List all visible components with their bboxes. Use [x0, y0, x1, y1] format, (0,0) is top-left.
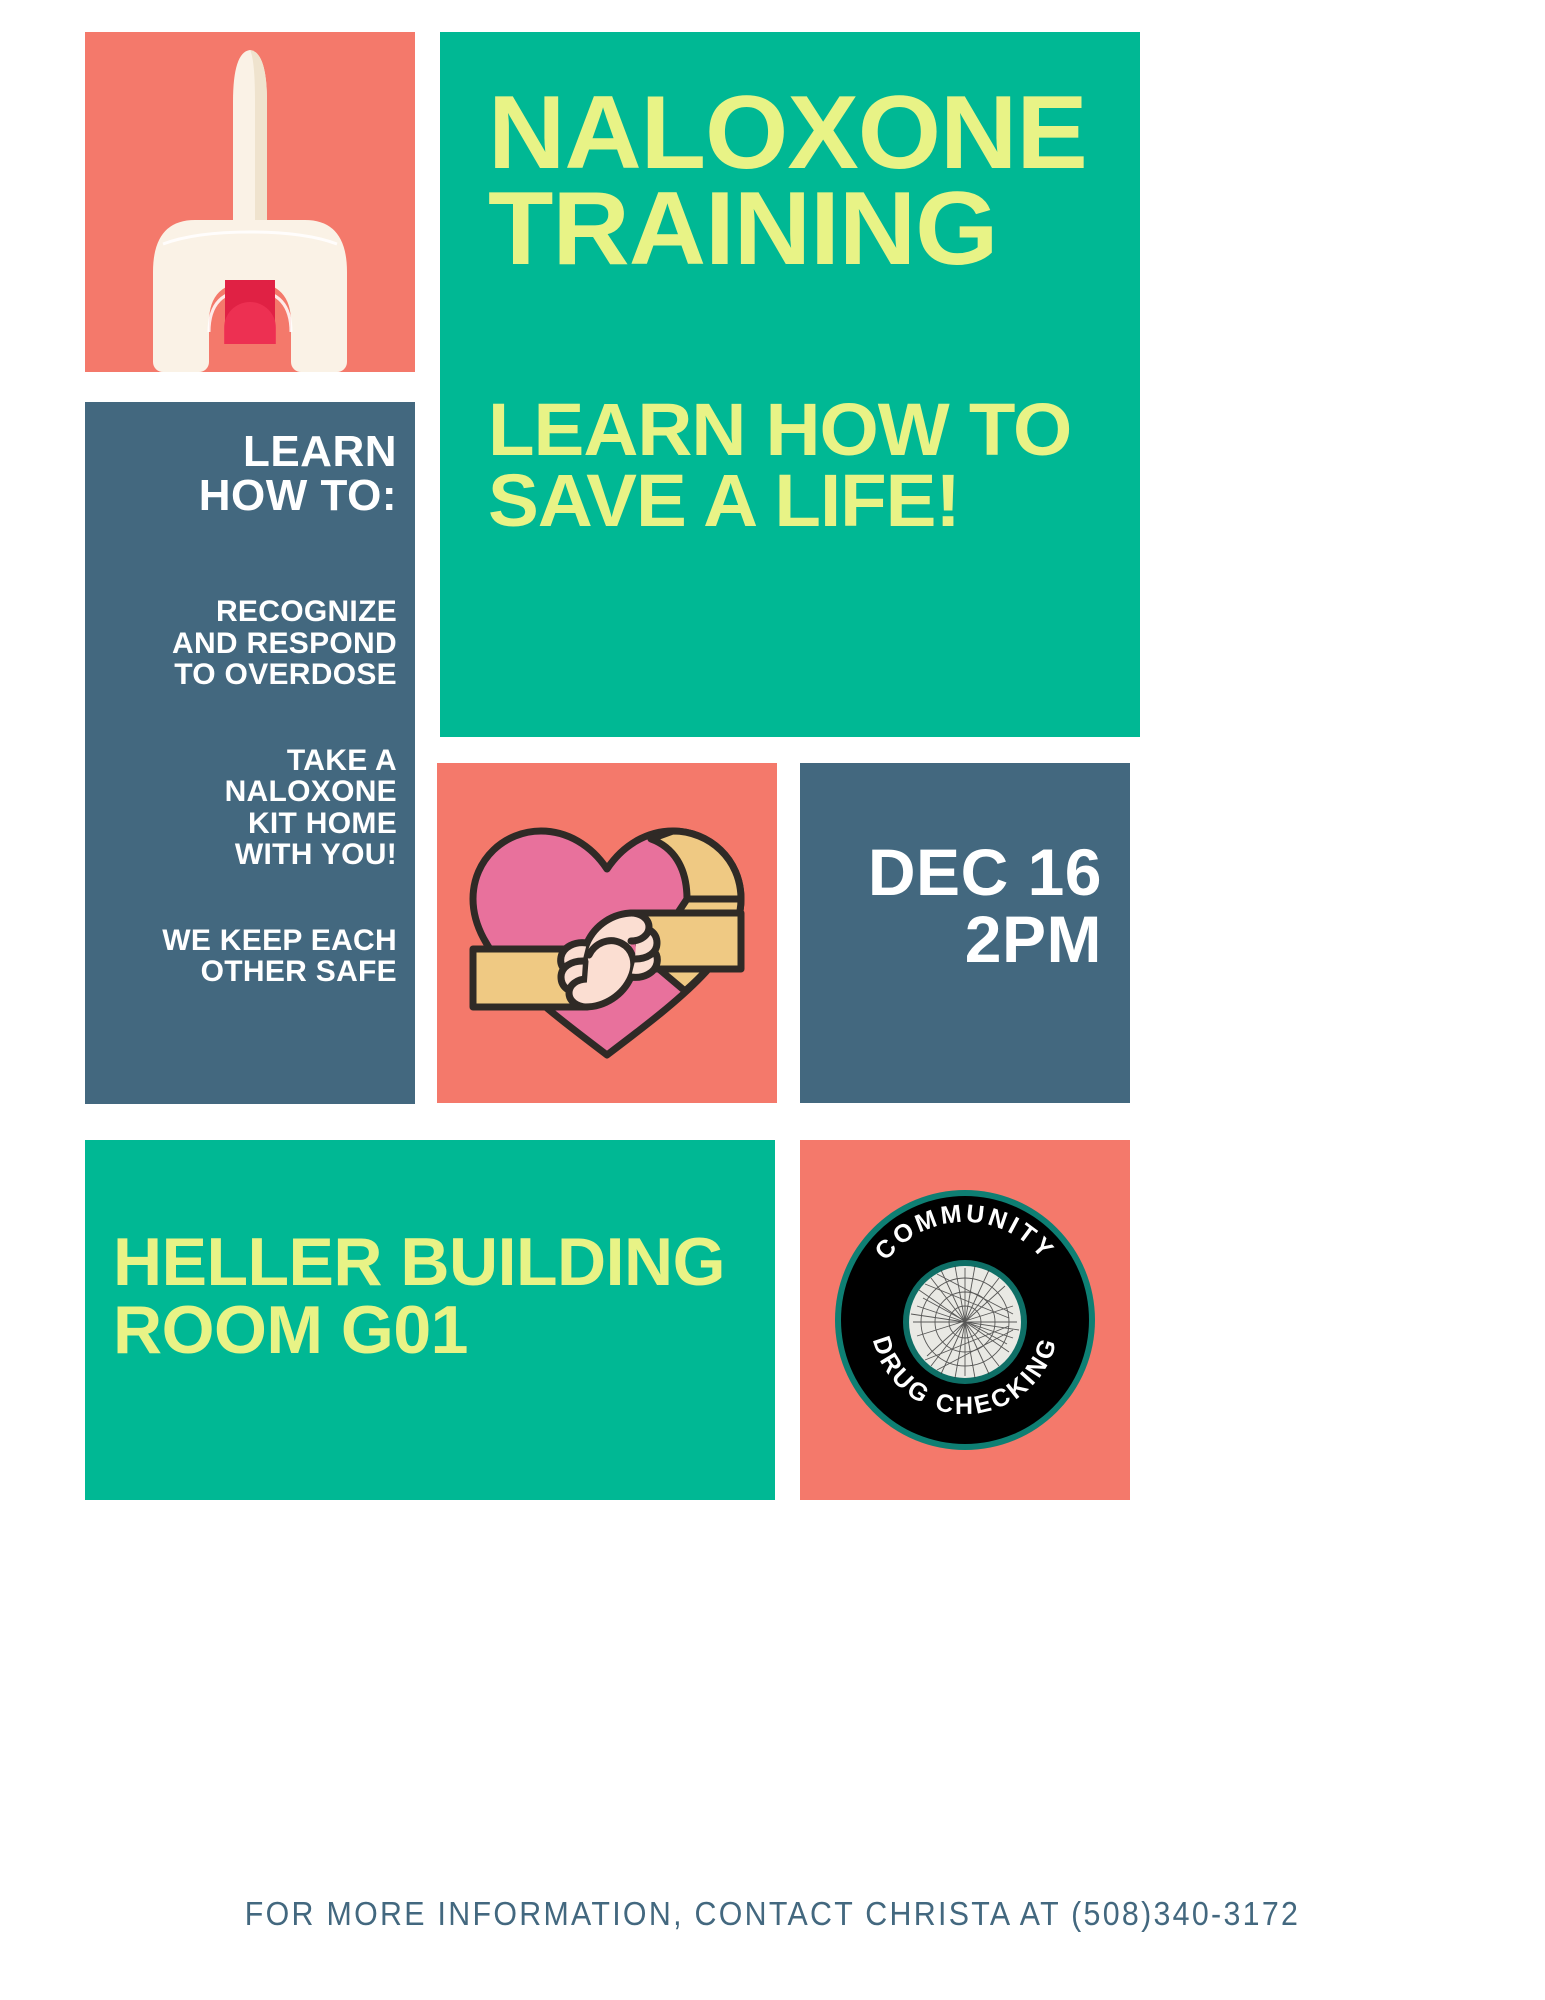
location-panel: HELLER BUILDING ROOM G01: [85, 1140, 775, 1500]
logo-panel: COMMUNITY DRUG CHECKING: [800, 1140, 1130, 1500]
heart-with-hands-icon: [437, 763, 777, 1103]
community-drug-checking-logo-icon: COMMUNITY DRUG CHECKING: [831, 1186, 1099, 1454]
poster-canvas: NALOXONE TRAINING LEARN HOW TO SAVE A LI…: [0, 0, 1545, 2000]
page-subtitle: LEARN HOW TO SAVE A LIFE!: [488, 395, 1118, 536]
location-line-1: HELLER BUILDING: [113, 1228, 755, 1296]
learn-how-to-panel: LEARN HOW TO: RECOGNIZE AND RESPOND TO O…: [85, 402, 415, 1104]
headline-inner: NALOXONE TRAINING LEARN HOW TO SAVE A LI…: [488, 86, 1100, 536]
footer-contact-text: FOR MORE INFORMATION, CONTACT CHRISTA AT…: [62, 1895, 1483, 1933]
headline-panel: NALOXONE TRAINING LEARN HOW TO SAVE A LI…: [440, 32, 1140, 737]
heart-image-panel: [437, 763, 777, 1103]
date-line-1: DEC 16: [800, 839, 1102, 906]
nasal-spray-icon: [85, 32, 415, 372]
learn-item: RECOGNIZE AND RESPOND TO OVERDOSE: [103, 596, 397, 691]
date-line-2: 2PM: [800, 906, 1102, 973]
naloxone-image-panel: [85, 32, 415, 372]
learn-item: WE KEEP EACH OTHER SAFE: [103, 925, 397, 988]
page-title: NALOXONE TRAINING: [488, 86, 1118, 277]
learn-item: TAKE A NALOXONE KIT HOME WITH YOU!: [103, 745, 397, 871]
date-panel: DEC 16 2PM: [800, 763, 1130, 1103]
learn-how-to-heading: LEARN HOW TO:: [103, 430, 397, 518]
location-line-2: ROOM G01: [113, 1296, 755, 1364]
